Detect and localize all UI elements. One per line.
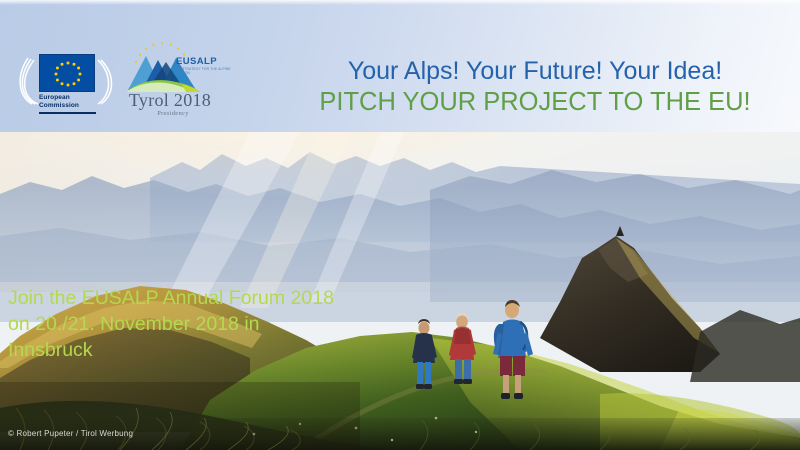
eusalp-forum-poster: European Commission xyxy=(0,0,800,450)
headline-block: Your Alps! Your Future! Your Idea! PITCH… xyxy=(300,56,770,117)
headline-primary: Your Alps! Your Future! Your Idea! xyxy=(300,56,770,86)
event-line-2: on 20./21. November 2018 in xyxy=(8,311,368,337)
eu-logo-rule xyxy=(39,112,96,114)
headline-secondary: PITCH YOUR PROJECT TO THE EU! xyxy=(300,87,770,117)
presidency-subtitle: Presidency xyxy=(114,110,232,117)
european-commission-logo: European Commission xyxy=(16,48,116,120)
eu-commission-label: European Commission xyxy=(39,94,97,110)
eusalp-tyrol-presidency-logo: EUSALP EU Strategy for the Alpine Region… xyxy=(112,40,242,122)
event-announcement: Join the EUSALP Annual Forum 2018 on 20.… xyxy=(8,285,368,363)
eu-stars-icon xyxy=(40,55,96,93)
eu-flag-icon xyxy=(39,54,95,92)
presidency-title: Tyrol 2018 xyxy=(114,90,226,111)
event-line-3: Innsbruck xyxy=(8,337,368,363)
event-line-1: Join the EUSALP Annual Forum 2018 xyxy=(8,285,368,311)
eusalp-wordmark: EUSALP xyxy=(176,56,217,67)
eusalp-tagline: EU Strategy for the Alpine Region xyxy=(176,67,238,76)
photo-credit: © Robert Pupeter / Tirol Werbung xyxy=(8,429,133,438)
